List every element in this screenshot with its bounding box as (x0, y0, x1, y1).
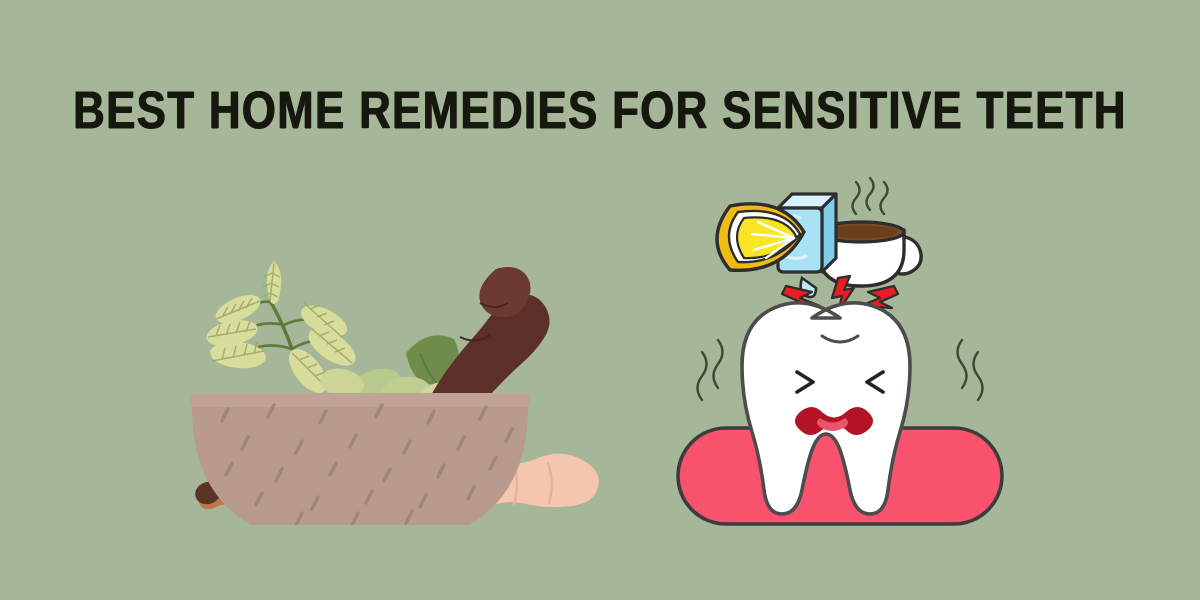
mortar-bowl (190, 393, 530, 525)
page-title: BEST HOME REMEDIES FOR SENSITIVE TEETH (42, 83, 1158, 136)
steam-lines (853, 178, 888, 214)
sensitive-tooth-illustration (660, 160, 1020, 540)
mortar-and-pestle-illustration (180, 225, 620, 525)
banner: BEST HOME REMEDIES FOR SENSITIVE TEETH (0, 0, 1200, 600)
